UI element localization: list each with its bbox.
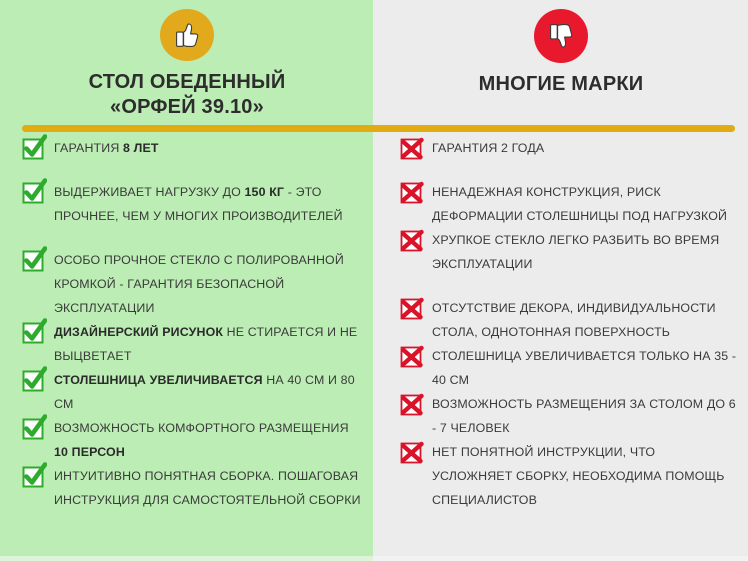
- good-feature-item: ДИЗАЙНЕРСКИЙ РИСУНОК НЕ СТИРАЕТСЯ И НЕ В…: [22, 320, 365, 368]
- good-feature-item-label: ГАРАНТИЯ 8 ЛЕТ: [54, 136, 365, 160]
- good-feature-item: ВОЗМОЖНОСТЬ КОМФОРТНОГО РАЗМЕЩЕНИЯ 10 ПЕ…: [22, 416, 365, 464]
- checkbox-check-icon: [22, 417, 44, 439]
- bad-feature-item-label: НЕТ ПОНЯТНОЙ ИНСТРУКЦИИ, ЧТО УСЛОЖНЯЕТ С…: [432, 440, 738, 512]
- comparison-infographic: СТОЛ ОБЕДЕННЫЙ «ОРФЕЙ 39.10» МНОГИЕ МАРК…: [0, 0, 748, 561]
- bad-feature-item: НЕНАДЕЖНАЯ КОНСТРУКЦИЯ, РИСК ДЕФОРМАЦИИ …: [400, 180, 738, 228]
- good-feature-item-label: СТОЛЕШНИЦА УВЕЛИЧИВАЕТСЯ НА 40 СМ И 80 С…: [54, 368, 365, 416]
- bad-feature-item: ХРУПКОЕ СТЕКЛО ЛЕГКО РАЗБИТЬ ВО ВРЕМЯ ЭК…: [400, 228, 738, 276]
- good-feature-item: ВЫДЕРЖИВАЕТ НАГРУЗКУ ДО 150 КГ - ЭТО ПРО…: [22, 180, 365, 228]
- checkbox-check-icon: [22, 137, 44, 159]
- good-feature-item-label: ВЫДЕРЖИВАЕТ НАГРУЗКУ ДО 150 КГ - ЭТО ПРО…: [54, 180, 365, 228]
- good-feature-item: ИНТУИТИВНО ПОНЯТНАЯ СБОРКА. ПОШАГОВАЯ ИН…: [22, 464, 365, 512]
- checkbox-check-icon: [22, 465, 44, 487]
- good-feature-item-label: ИНТУИТИВНО ПОНЯТНАЯ СБОРКА. ПОШАГОВАЯ ИН…: [54, 464, 365, 512]
- good-title: СТОЛ ОБЕДЕННЫЙ «ОРФЕЙ 39.10»: [89, 70, 286, 120]
- checkbox-cross-icon: [400, 441, 422, 463]
- good-feature-item: ОСОБО ПРОЧНОЕ СТЕКЛО С ПОЛИРОВАННОЙ КРОМ…: [22, 248, 365, 320]
- checkbox-cross-icon: [400, 345, 422, 367]
- checkbox-check-icon: [22, 369, 44, 391]
- headers-row: СТОЛ ОБЕДЕННЫЙ «ОРФЕЙ 39.10» МНОГИЕ МАРК…: [0, 0, 748, 120]
- bad-feature-item-label: СТОЛЕШНИЦА УВЕЛИЧИВАЕТСЯ ТОЛЬКО НА 35 - …: [432, 344, 738, 392]
- checkbox-cross-icon: [400, 137, 422, 159]
- bad-features-list: ГАРАНТИЯ 2 ГОДАНЕНАДЕЖНАЯ КОНСТРУКЦИЯ, Р…: [373, 136, 748, 512]
- checkbox-check-icon: [22, 321, 44, 343]
- bad-title: МНОГИЕ МАРКИ: [479, 72, 644, 97]
- bad-feature-item-label: НЕНАДЕЖНАЯ КОНСТРУКЦИЯ, РИСК ДЕФОРМАЦИИ …: [432, 180, 738, 228]
- good-feature-item: СТОЛЕШНИЦА УВЕЛИЧИВАЕТСЯ НА 40 СМ И 80 С…: [22, 368, 365, 416]
- bad-feature-item-label: ГАРАНТИЯ 2 ГОДА: [432, 136, 738, 160]
- bad-feature-item-label: ВОЗМОЖНОСТЬ РАЗМЕЩЕНИЯ ЗА СТОЛОМ ДО 6 - …: [432, 392, 738, 440]
- comparison-columns: ГАРАНТИЯ 8 ЛЕТВЫДЕРЖИВАЕТ НАГРУЗКУ ДО 15…: [0, 136, 748, 512]
- good-feature-item-label: ДИЗАЙНЕРСКИЙ РИСУНОК НЕ СТИРАЕТСЯ И НЕ В…: [54, 320, 365, 368]
- good-header: СТОЛ ОБЕДЕННЫЙ «ОРФЕЙ 39.10»: [0, 0, 374, 120]
- good-feature-item-label: ВОЗМОЖНОСТЬ КОМФОРТНОГО РАЗМЕЩЕНИЯ 10 ПЕ…: [54, 416, 365, 464]
- good-feature-item-label: ОСОБО ПРОЧНОЕ СТЕКЛО С ПОЛИРОВАННОЙ КРОМ…: [54, 248, 365, 320]
- yellow-divider: [22, 125, 735, 132]
- bottom-strip-right: [373, 556, 748, 561]
- bad-feature-item: ВОЗМОЖНОСТЬ РАЗМЕЩЕНИЯ ЗА СТОЛОМ ДО 6 - …: [400, 392, 738, 440]
- checkbox-cross-icon: [400, 297, 422, 319]
- bad-title-line1: МНОГИЕ МАРКИ: [479, 73, 644, 95]
- bad-feature-item: ГАРАНТИЯ 2 ГОДА: [400, 136, 738, 160]
- good-feature-item: ГАРАНТИЯ 8 ЛЕТ: [22, 136, 365, 160]
- checkbox-cross-icon: [400, 229, 422, 251]
- checkbox-check-icon: [22, 249, 44, 271]
- bad-feature-item-label: ХРУПКОЕ СТЕКЛО ЛЕГКО РАЗБИТЬ ВО ВРЕМЯ ЭК…: [432, 228, 738, 276]
- checkbox-cross-icon: [400, 181, 422, 203]
- good-title-line2: «ОРФЕЙ 39.10»: [89, 95, 286, 120]
- bad-feature-item: НЕТ ПОНЯТНОЙ ИНСТРУКЦИИ, ЧТО УСЛОЖНЯЕТ С…: [400, 440, 738, 512]
- good-features-list: ГАРАНТИЯ 8 ЛЕТВЫДЕРЖИВАЕТ НАГРУЗКУ ДО 15…: [0, 136, 373, 512]
- bad-feature-item: ОТСУТСТВИЕ ДЕКОРА, ИНДИВИДУАЛЬНОСТИ СТОЛ…: [400, 296, 738, 344]
- checkbox-check-icon: [22, 181, 44, 203]
- checkbox-cross-icon: [400, 393, 422, 415]
- bad-feature-item: СТОЛЕШНИЦА УВЕЛИЧИВАЕТСЯ ТОЛЬКО НА 35 - …: [400, 344, 738, 392]
- bad-header: МНОГИЕ МАРКИ: [374, 0, 748, 120]
- thumbs-up-icon: [160, 9, 214, 61]
- bad-feature-item-label: ОТСУТСТВИЕ ДЕКОРА, ИНДИВИДУАЛЬНОСТИ СТОЛ…: [432, 296, 738, 344]
- thumbs-down-icon: [534, 9, 588, 63]
- good-title-line1: СТОЛ ОБЕДЕННЫЙ: [89, 71, 286, 93]
